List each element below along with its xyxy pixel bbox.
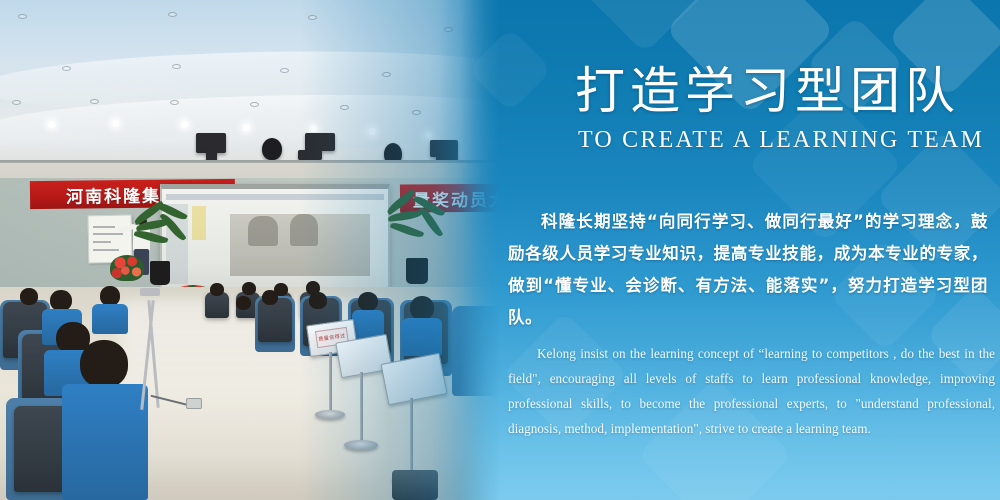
downlight-icon — [62, 66, 71, 71]
attendee-head — [410, 296, 434, 320]
attendee-head — [50, 290, 72, 311]
stage-light — [305, 133, 335, 151]
company-culture-banner: 河南科隆集团深 量奖动员大会 — [0, 0, 1000, 500]
downlight-icon — [340, 105, 349, 110]
stage-light — [262, 138, 282, 160]
attendee-head — [262, 290, 278, 305]
attendee-head — [100, 286, 120, 306]
attendee-head — [358, 292, 378, 311]
flipchart-line — [93, 241, 111, 243]
flipchart-line — [93, 226, 115, 228]
downlight-icon — [308, 15, 317, 20]
attendee-head — [309, 292, 327, 309]
screen-toolbar — [166, 194, 384, 200]
attendee-body — [92, 304, 128, 334]
downlight-icon — [170, 100, 179, 105]
music-stand-pole — [360, 372, 363, 444]
waste-bin — [392, 470, 438, 500]
music-stand-pole — [410, 398, 413, 478]
screen-photo-blob — [290, 214, 318, 246]
sign-stand-base — [315, 410, 345, 419]
ceiling-light-glow — [181, 121, 188, 128]
flower-arrangement — [110, 255, 144, 281]
chair — [258, 298, 292, 342]
downlight-icon — [412, 110, 421, 115]
music-stand-base — [344, 440, 378, 450]
downlight-icon — [250, 102, 259, 107]
ceiling-light-glow — [425, 132, 432, 139]
screen-photo-blob — [248, 216, 278, 246]
downlight-icon — [90, 99, 99, 104]
flipchart-line — [93, 249, 119, 251]
ceiling-light-glow — [310, 125, 317, 132]
downlight-icon — [172, 64, 181, 69]
ceiling-light-glow — [48, 121, 55, 128]
downlight-icon — [444, 27, 453, 32]
flipchart-line — [93, 233, 123, 235]
ceiling-light-glow — [243, 124, 250, 131]
ceiling-light-glow — [369, 128, 376, 135]
auditorium-photo: 河南科隆集团深 量奖动员大会 — [0, 0, 500, 500]
screen-highlight — [192, 206, 206, 240]
text-content: 打造学习型团队 TO CREATE A LEARNING TEAM 科隆长期坚持… — [490, 0, 1000, 500]
downlight-icon — [168, 12, 177, 17]
downlight-icon — [280, 68, 289, 73]
ceiling-light-glow — [112, 120, 119, 127]
sign-stand-pole — [329, 352, 332, 414]
downlight-icon — [18, 14, 27, 19]
page-title: 打造学习型团队 — [575, 66, 960, 116]
stage-light — [298, 150, 322, 160]
downlight-icon — [382, 72, 391, 77]
body-paragraph-english: Kelong insist on the learning concept of… — [508, 341, 995, 441]
page-subtitle: TO CREATE A LEARNING TEAM — [578, 127, 984, 154]
attendee-head — [80, 340, 128, 388]
attendee-body — [62, 384, 148, 500]
attendee-head — [210, 283, 224, 296]
attendee-head — [20, 288, 38, 305]
downlight-icon — [12, 100, 21, 105]
power-adapter — [186, 398, 202, 409]
tripod-head — [140, 288, 160, 296]
attendee-body — [402, 318, 442, 356]
attendee-head — [242, 282, 256, 295]
attendee-head — [236, 296, 251, 310]
body-paragraph-chinese: 科隆长期坚持“向同行学习、做同行最好”的学习理念，鼓励各级人员学习专业知识，提高… — [508, 206, 988, 334]
